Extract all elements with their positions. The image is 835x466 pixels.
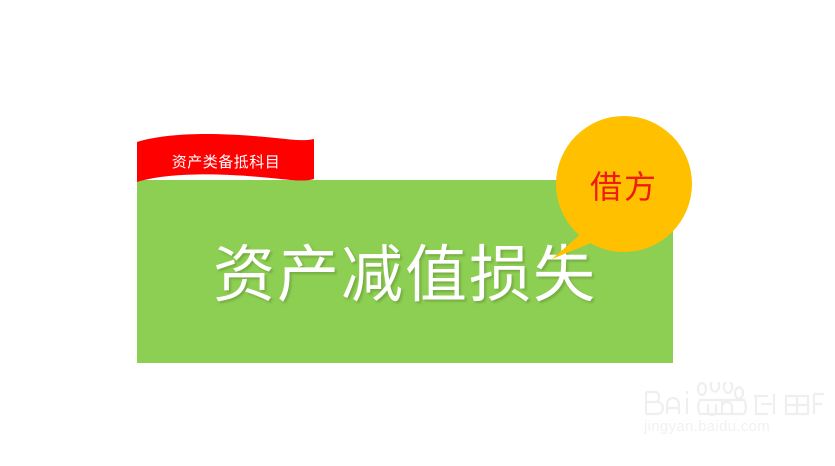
watermark-url: jingyan.baidu.com — [644, 418, 834, 436]
watermark-logo-row — [640, 382, 830, 418]
baidu-jingyan-watermark: jingyan.baidu.com — [640, 382, 830, 444]
watermark-brand-outline — [646, 391, 824, 415]
callout-label: 借方 — [556, 166, 692, 208]
slide-canvas: 资产减值损失 资产类备抵科目 借方 — [0, 0, 835, 466]
ribbon-label: 资产类备抵科目 — [136, 152, 316, 174]
paw-print-icon — [698, 382, 743, 399]
